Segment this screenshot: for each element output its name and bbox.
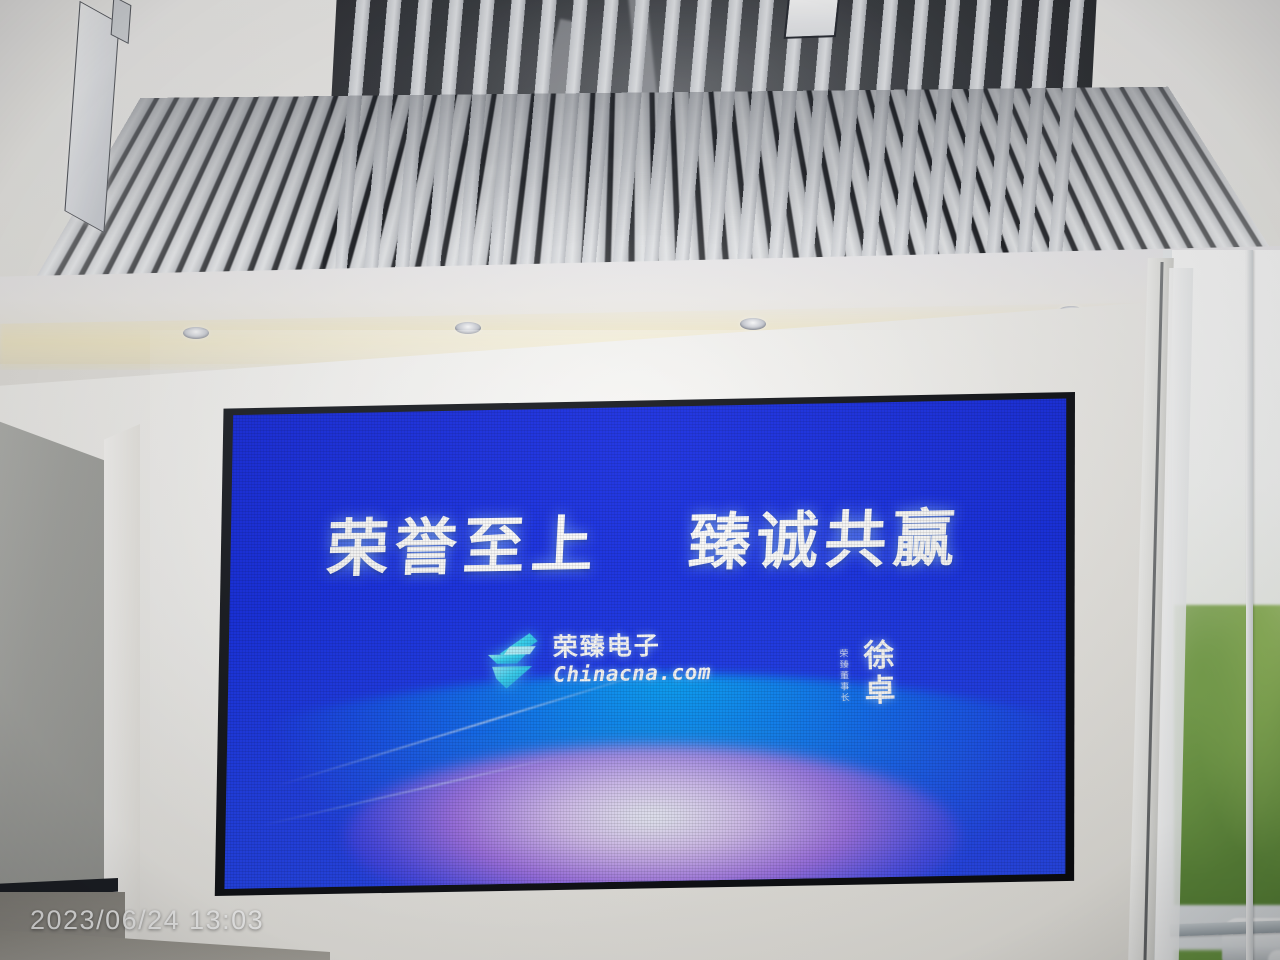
background-arc — [206, 392, 1082, 584]
light-ray — [258, 755, 566, 828]
signature-name: 徐卓 — [853, 638, 900, 709]
stage-glow — [346, 745, 959, 896]
background-arc — [206, 392, 1082, 573]
company-logo-icon — [486, 630, 543, 691]
downlight-icon — [455, 322, 481, 334]
downlight-icon — [740, 318, 766, 330]
slogan-left: 荣誉至上 — [325, 508, 601, 586]
brand-name-en: Chinacna.com — [553, 661, 711, 685]
photo-scene: 荣誉至上 臻诚共赢 — [0, 0, 1280, 960]
window-trees — [1174, 605, 1280, 905]
background-arc — [206, 725, 1082, 896]
led-screen-content: 荣誉至上 臻诚共赢 — [206, 392, 1082, 896]
camera-timestamp: 2023/06/24 13:03 — [30, 905, 264, 936]
led-screen[interactable]: 荣誉至上 臻诚共赢 — [206, 392, 1082, 896]
slogan: 荣誉至上 臻诚共赢 — [206, 485, 1082, 590]
brand-name-cn: 荣臻电子 — [553, 631, 711, 659]
downlight-icon — [183, 327, 209, 339]
left-alcove — [0, 418, 114, 928]
alcove-jamb — [104, 424, 140, 944]
background-arc — [206, 392, 1082, 594]
brand-text: 荣臻电子 Chinacna.com — [553, 631, 712, 685]
slogan-right: 臻诚共赢 — [686, 501, 962, 579]
ceiling-access-panel — [784, 0, 841, 39]
background-arc-cyan — [206, 674, 1082, 896]
window-mullion — [1246, 250, 1253, 960]
signature-title: 荣臻董事长 — [836, 648, 850, 703]
signature-block: 荣臻董事长 徐卓 — [836, 638, 900, 710]
brand-lockup: 荣臻电子 Chinacna.com — [486, 627, 712, 691]
slogan-gap — [626, 564, 660, 565]
